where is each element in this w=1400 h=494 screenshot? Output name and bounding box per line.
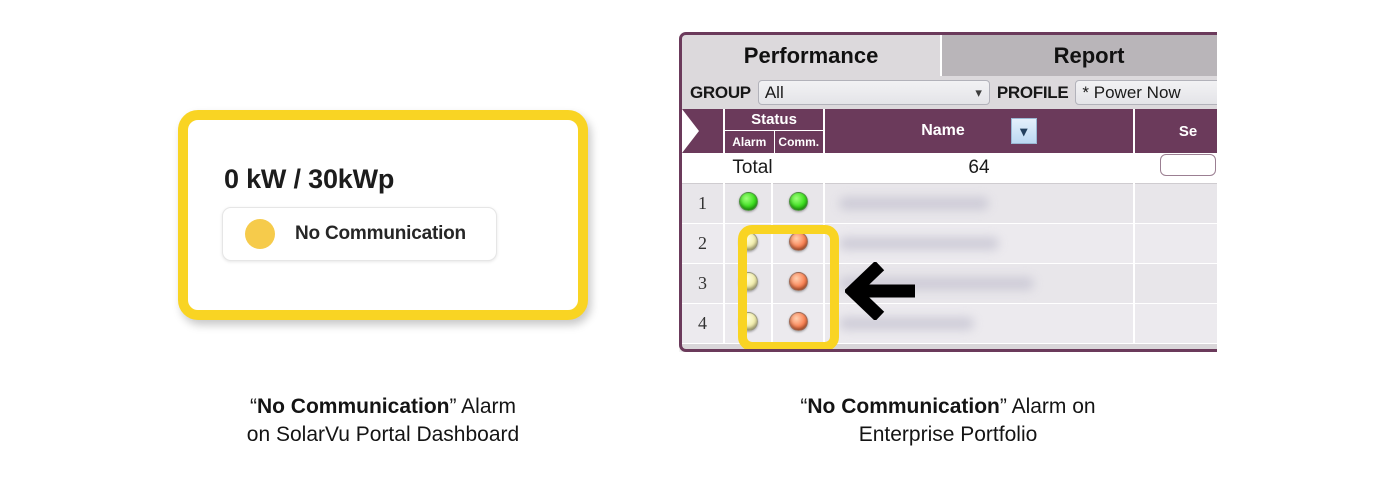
portfolio-window: Performance Report GROUP All ▾ PROFILE *…	[679, 32, 1217, 352]
comm-led-green-icon	[789, 192, 808, 211]
comm-led-orange-icon	[789, 232, 808, 251]
row-index: 1	[682, 183, 724, 223]
comm-led-orange-icon	[789, 312, 808, 331]
name-column-header[interactable]: Name ▾	[824, 109, 1134, 153]
table-data-rows: 1234	[682, 183, 1217, 343]
total-row-label: Total	[682, 153, 824, 183]
profile-select[interactable]: * Power Now	[1075, 80, 1217, 105]
caption-right-line1: “No Communication” Alarm on	[713, 393, 1183, 421]
solarvu-dashboard-card-region: 0 kW / 30kWp No Communication	[178, 110, 588, 320]
screenshot-stage: 0 kW / 30kWp No Communication Performanc…	[0, 0, 1400, 494]
caption-left-quoted: No Communication	[257, 395, 450, 418]
comm-column-header[interactable]: Comm.	[774, 131, 824, 153]
status-group-label: Status	[725, 109, 823, 131]
alarm-led-pale-icon	[739, 272, 758, 291]
chevron-down-icon[interactable]: ▾	[1011, 118, 1037, 144]
caption-left-line2: on SolarVu Portal Dashboard	[148, 421, 618, 449]
caption-right-quoted: No Communication	[807, 395, 1000, 418]
site-name-cell[interactable]	[824, 223, 1134, 263]
arrow-right-icon	[682, 109, 699, 153]
group-select[interactable]: All ▾	[758, 80, 990, 105]
table-header: Status Alarm Comm. Name ▾	[682, 109, 1217, 153]
alarm-status-cell[interactable]	[724, 183, 772, 223]
arrow-left-icon	[845, 262, 915, 320]
filter-bar: GROUP All ▾ PROFILE * Power Now	[682, 76, 1217, 109]
select-cell[interactable]	[1134, 263, 1217, 303]
select-column-label: Se	[1179, 123, 1197, 140]
row-index: 3	[682, 263, 724, 303]
table-body: Total 64	[682, 153, 1217, 183]
status-column-header: Status Alarm Comm.	[724, 109, 824, 153]
row-index: 2	[682, 223, 724, 263]
alarm-status-cell[interactable]	[724, 263, 772, 303]
select-column-header[interactable]: Se	[1134, 109, 1217, 153]
comm-status-cell[interactable]	[772, 263, 824, 303]
profile-label: PROFILE	[997, 83, 1069, 103]
row-index: 4	[682, 303, 724, 343]
enterprise-portfolio-region: Performance Report GROUP All ▾ PROFILE *…	[679, 32, 1217, 352]
select-all-chip[interactable]	[1160, 154, 1216, 176]
total-row: Total 64	[682, 153, 1217, 183]
table-row[interactable]: 4	[682, 303, 1217, 343]
tab-strip: Performance Report	[682, 35, 1217, 76]
caption-right: “No Communication” Alarm on Enterprise P…	[713, 393, 1183, 448]
site-name-redacted	[839, 197, 989, 210]
group-label: GROUP	[690, 83, 751, 103]
kpi-power-value: 0 kW / 30kWp	[224, 166, 578, 193]
site-name-cell[interactable]	[824, 183, 1134, 223]
alarm-led-green-icon	[739, 192, 758, 211]
table-row[interactable]: 2	[682, 223, 1217, 263]
caption-left: “No Communication” Alarm on SolarVu Port…	[148, 393, 618, 448]
expand-column-header[interactable]	[682, 109, 724, 153]
no-communication-status-pill[interactable]: No Communication	[222, 207, 497, 261]
alarm-status-cell[interactable]	[724, 223, 772, 263]
select-cell[interactable]	[1134, 183, 1217, 223]
kpi-card: 0 kW / 30kWp No Communication	[178, 110, 588, 320]
profile-select-value: * Power Now	[1082, 83, 1180, 103]
group-select-value: All	[765, 83, 784, 103]
select-cell[interactable]	[1134, 303, 1217, 343]
caption-left-line1: “No Communication” Alarm	[148, 393, 618, 421]
alarm-column-header[interactable]: Alarm	[725, 131, 774, 153]
caption-right-rest: Alarm on	[1007, 395, 1096, 418]
alarm-status-cell[interactable]	[724, 303, 772, 343]
table-row[interactable]: 1	[682, 183, 1217, 223]
site-name-redacted	[839, 237, 999, 250]
select-cell[interactable]	[1134, 223, 1217, 263]
alarm-led-pale-icon	[739, 232, 758, 251]
tab-report[interactable]: Report	[942, 35, 1217, 76]
total-row-select[interactable]	[1134, 153, 1217, 183]
name-column-label: Name	[921, 122, 965, 140]
caption-left-rest: Alarm	[456, 395, 516, 418]
table-header-row: Status Alarm Comm. Name ▾	[682, 109, 1217, 153]
comm-status-cell[interactable]	[772, 303, 824, 343]
tab-performance[interactable]: Performance	[682, 35, 942, 76]
comm-led-orange-icon	[789, 272, 808, 291]
alarm-led-pale-icon	[739, 312, 758, 331]
status-dot-icon	[245, 219, 275, 249]
status-pill-label: No Communication	[295, 223, 466, 245]
portfolio-table: Status Alarm Comm. Name ▾	[682, 109, 1217, 344]
comm-status-cell[interactable]	[772, 223, 824, 263]
caption-right-line2: Enterprise Portfolio	[713, 421, 1183, 449]
comm-status-cell[interactable]	[772, 183, 824, 223]
total-row-count: 64	[824, 153, 1134, 183]
table-row[interactable]: 3	[682, 263, 1217, 303]
chevron-down-icon: ▾	[975, 85, 982, 101]
